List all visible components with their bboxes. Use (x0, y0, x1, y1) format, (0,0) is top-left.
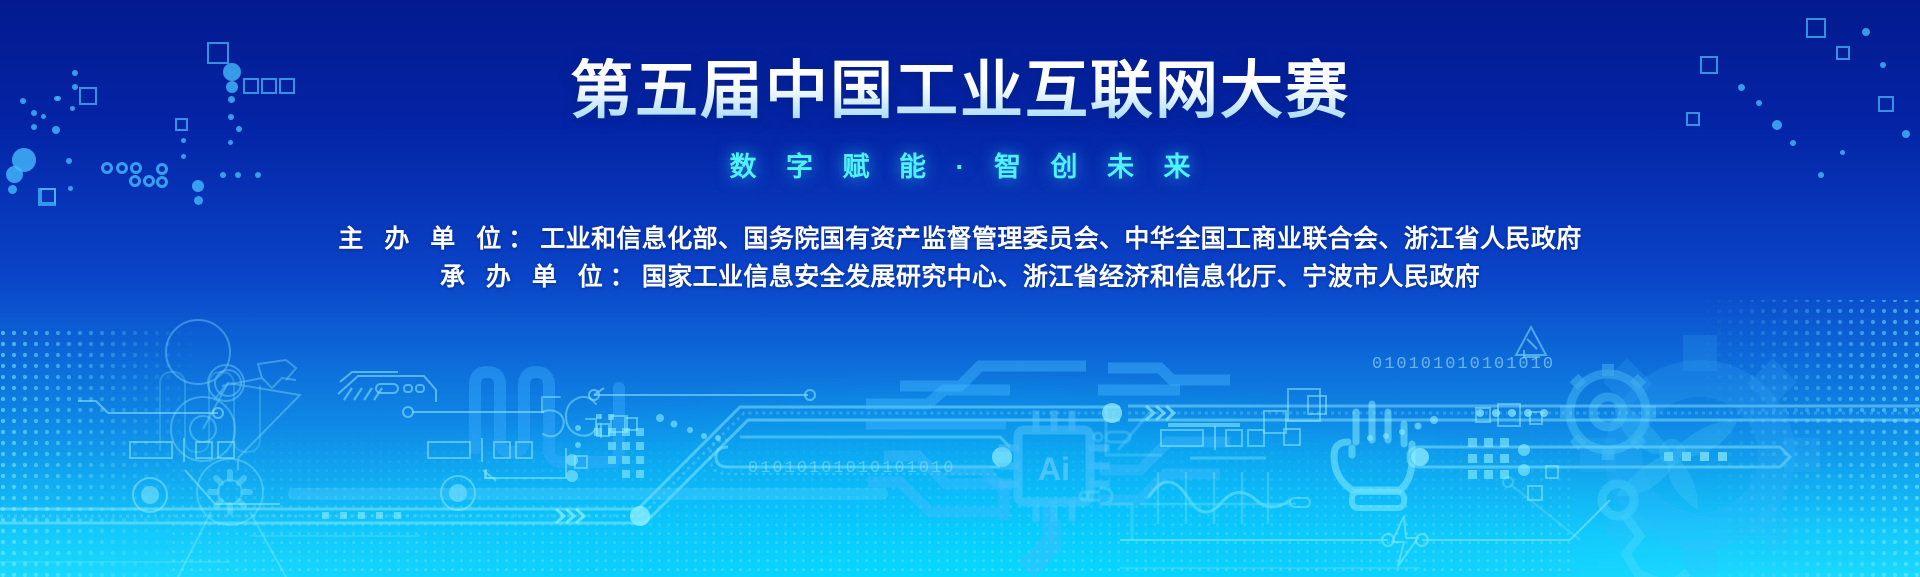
organizer-row: 主 办 单 位：工业和信息化部、国务院国有资产监督管理委员会、中华全国工商业联合… (0, 220, 1920, 258)
ai-chip-label: Ai (1038, 451, 1070, 487)
organizer-list: 主 办 单 位：工业和信息化部、国务院国有资产监督管理委员会、中华全国工商业联合… (0, 220, 1920, 296)
binary-left-label: 01010101010101010 (748, 459, 955, 478)
organizer-row: 承 办 单 位：国家工业信息安全发展研究中心、浙江省经济和信息化厅、宁波市人民政… (0, 258, 1920, 296)
banner-text-block: 第五届中国工业互联网大赛 数 字 赋 能 · 智 创 未 来 主 办 单 位：工… (0, 58, 1920, 296)
organizer-label: 承 办 单 位： (440, 263, 642, 291)
delta-badge-icon (1516, 327, 1546, 357)
decor-connector-rails (78, 372, 815, 418)
page-subtitle: 数 字 赋 能 · 智 创 未 来 (0, 145, 1920, 184)
organizer-value: 国家工业信息安全发展研究中心、浙江省经济和信息化厅、宁波市人民政府 (642, 263, 1480, 291)
organizer-value: 工业和信息化部、国务院国有资产监督管理委员会、中华全国工商业联合会、浙江省人民政… (540, 225, 1581, 253)
organizer-label: 主 办 单 位： (338, 225, 540, 253)
page-title: 第五届中国工业互联网大赛 (0, 58, 1920, 124)
event-banner: Ai 01010101010101010 010101010101010 (0, 0, 1920, 577)
